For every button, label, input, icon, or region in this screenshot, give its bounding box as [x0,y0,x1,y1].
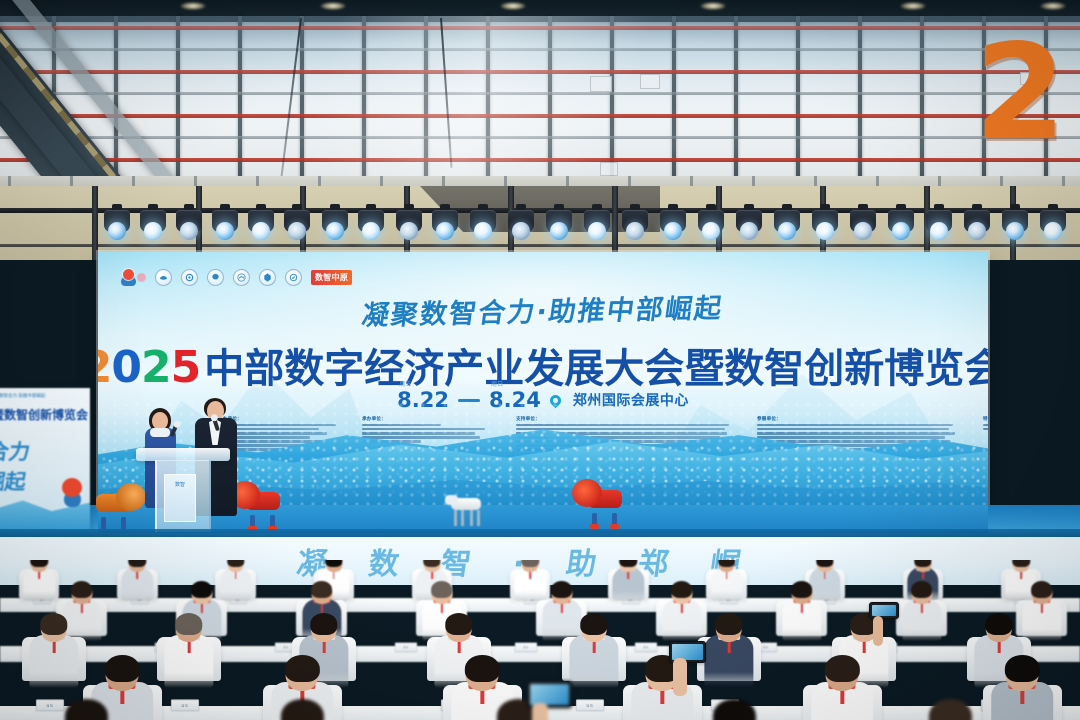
moving-head-light [622,210,648,244]
audience-area: 席位席位席位席位席位席位席位席位席位席位席位席位席位席位席位席位席位席位席位席位… [0,560,1080,720]
side-banner-top-text: 数智合力·助推中部崛起 [0,393,46,399]
organizer-logo-2 [181,269,198,286]
ceiling-vent [600,162,618,176]
side-banner-title: 会暨数智创新博览会 [0,406,88,423]
window-mullion [672,16,676,200]
audience-hair [465,655,499,682]
organizer-logo-5 [259,269,276,286]
ceiling-vent [640,74,660,89]
moving-head-light [736,210,762,244]
audience-hair [311,581,333,598]
moving-head-light [964,210,990,244]
moving-head-light [698,210,724,244]
moving-head-light [888,210,914,244]
moving-head-light [546,210,572,244]
robot-dog-center [445,494,487,524]
window-mullion [796,16,800,200]
audience-row [0,700,1080,720]
audience-hair [825,655,859,682]
window-transom [0,114,1080,118]
audience-hair [40,613,67,635]
audience-hair [431,581,453,598]
audience-hair [1031,581,1053,598]
ceiling-light [700,2,726,10]
audience-raised-arm [532,703,548,720]
audience-hair [551,581,573,598]
robot-lion-far-left [86,486,140,520]
audience-hair [985,613,1012,635]
audience-hair [65,699,107,720]
organizer-logo-6 [285,269,302,286]
date-separator [458,399,480,402]
audience-raised-arm [873,616,884,646]
audience-hair [191,581,213,598]
robot-lion-left [236,484,290,518]
moving-head-light [850,210,876,244]
organizer-logo-1 [155,269,172,286]
moving-head-light [212,210,238,244]
truss-post [92,186,98,260]
window-transom [0,92,1080,95]
window-mullion [424,16,428,200]
end-date-weekday: 周日 [491,379,504,388]
hall-number-2: 2 [974,42,1062,145]
event-title-row: 2025 中部数字经济产业发展大会暨数智创新博览会 [98,336,988,394]
window-mullion [486,16,490,200]
side-standing-banner: 数智合力·助推中部崛起 会暨数智创新博览会 合力 崛起 [0,388,90,538]
moving-head-light [584,210,610,244]
lighting-truss [0,186,1080,260]
window-mullion [548,16,552,200]
moving-head-light [660,210,686,244]
audience-hair [1005,655,1039,682]
credit-column: 特别鸣谢： [983,416,988,432]
audience-hair [105,655,139,682]
side-banner-slogan-1: 合力 [0,436,32,466]
organizer-logo-4 [233,269,250,286]
podium: 数智 [146,448,220,532]
window-mullion [734,16,738,200]
moving-head-light [432,210,458,244]
window-mullion [920,16,924,200]
audience-hair [175,613,202,635]
audience-hair [445,613,472,635]
moving-head-light [1002,210,1028,244]
audience-hair [71,581,93,598]
audience-hair [929,699,971,720]
audience-hair [911,581,933,598]
robot-lion-right [578,482,632,516]
moving-head-light [358,210,384,244]
window-mullion [176,16,180,200]
truss-post [612,186,618,260]
organizer-logo-strip: 数智中原 [120,268,352,287]
window-mullion [362,16,366,200]
window-transom [0,158,1080,162]
venue-curtain-wall: 2 [0,0,1080,200]
moving-head-light [926,210,952,244]
window-transom [0,70,1080,74]
moving-head-light [284,210,310,244]
location-pin-icon [548,392,564,408]
ceiling-light [1040,2,1066,10]
ceiling-light [500,2,526,10]
podium-logo: 数智 [168,482,192,490]
moving-head-light [104,210,130,244]
ceiling-light [180,2,206,10]
audience-raised-arm [673,658,686,695]
event-title: 中部数字经济产业发展大会暨数智创新博览会 [204,336,988,394]
moving-head-light [1040,210,1066,244]
venue-name: 郑州国际会展中心 [573,390,689,410]
moving-head-light [176,210,202,244]
suspension-cable [278,18,302,197]
ceiling-light [320,2,346,10]
organizer-logo-3 [207,269,224,286]
audience-hair [791,581,813,598]
start-date-weekday: 周五 [399,379,412,388]
conference-photo-scene: 2 [0,0,1080,720]
stage-front-edge [0,529,1080,537]
event-slogan: 凝聚数智合力·助推中部崛起 [98,281,988,339]
audience-hair [281,699,323,720]
audience-hair [285,655,319,682]
moving-head-light [396,210,422,244]
moving-head-light [248,210,274,244]
side-banner-slogan-2: 崛起 [0,466,28,496]
event-year: 2025 [98,342,200,393]
audience-hair [671,581,693,598]
ceiling-vent [590,76,612,92]
moving-head-light [322,210,348,244]
truss-bar-lower [0,244,1080,247]
audience-hair [310,613,337,635]
moving-head-light [470,210,496,244]
moving-head-light [774,210,800,244]
window-transom [0,26,1080,30]
audience-hair [713,699,755,720]
audience-hair [715,613,742,635]
window-transom [0,136,1080,139]
window-mullion [858,16,862,200]
event-mascot-logo [120,268,146,287]
moving-head-light [508,210,534,244]
start-date: 周五 8.22 [397,388,449,412]
side-banner-mascot [60,478,86,508]
window-mullion [238,16,242,200]
moving-head-light [812,210,838,244]
ceiling-light [900,2,926,10]
moving-head-light [140,210,166,244]
end-date: 周日 8.24 [489,388,541,412]
window-mullion [300,16,304,200]
audience-hair [580,613,607,635]
window-transom [0,48,1080,51]
sponsor-wordmark-logo: 数智中原 [311,270,352,285]
